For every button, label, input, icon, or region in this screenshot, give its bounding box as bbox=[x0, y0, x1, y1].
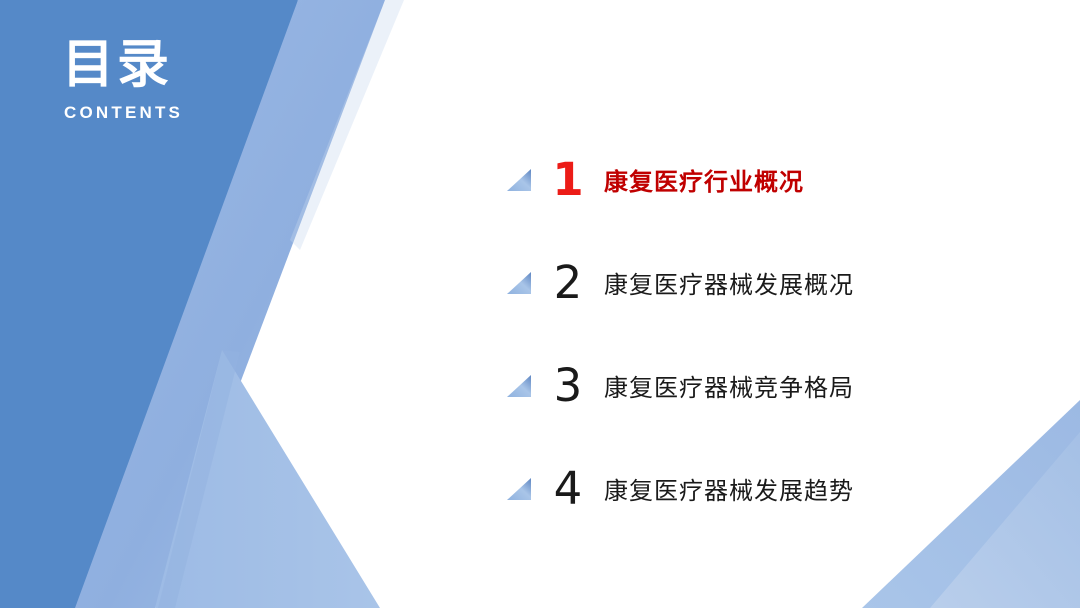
title-block: 目录 CONTENTS bbox=[62, 38, 322, 123]
page-subtitle: CONTENTS bbox=[64, 103, 322, 123]
toc-item-label[interactable]: 康复医疗器械发展趋势 bbox=[604, 471, 1026, 506]
contents-slide: 目录 CONTENTS 1 康复医疗行业概况 2 康复医疗器械发展概况 3 bbox=[0, 0, 1080, 608]
toc-item-number: 1 bbox=[546, 157, 590, 202]
triangle-marker-icon bbox=[506, 168, 532, 192]
page-title: 目录 bbox=[62, 38, 322, 93]
toc-item-label[interactable]: 康复医疗行业概况 bbox=[604, 162, 1026, 197]
toc-item-number: 3 bbox=[546, 363, 590, 408]
triangle-marker-icon bbox=[506, 271, 532, 295]
toc-item-label[interactable]: 康复医疗器械发展概况 bbox=[604, 265, 1026, 300]
toc-item-4[interactable]: 4 康复医疗器械发展趋势 bbox=[506, 437, 1026, 540]
toc-item-number: 4 bbox=[546, 466, 590, 511]
toc-item-1[interactable]: 1 康复医疗行业概况 bbox=[506, 128, 1026, 231]
triangle-marker-icon bbox=[506, 374, 532, 398]
triangle-marker-icon bbox=[506, 477, 532, 501]
table-of-contents: 1 康复医疗行业概况 2 康复医疗器械发展概况 3 康复医疗器械竞争格局 4 康… bbox=[506, 128, 1026, 540]
toc-item-3[interactable]: 3 康复医疗器械竞争格局 bbox=[506, 334, 1026, 437]
toc-item-2[interactable]: 2 康复医疗器械发展概况 bbox=[506, 231, 1026, 334]
toc-item-label[interactable]: 康复医疗器械竞争格局 bbox=[604, 368, 1026, 403]
crossover-sliver bbox=[158, 350, 240, 608]
toc-item-number: 2 bbox=[546, 260, 590, 305]
light-blue-lower-wedge bbox=[155, 350, 380, 608]
